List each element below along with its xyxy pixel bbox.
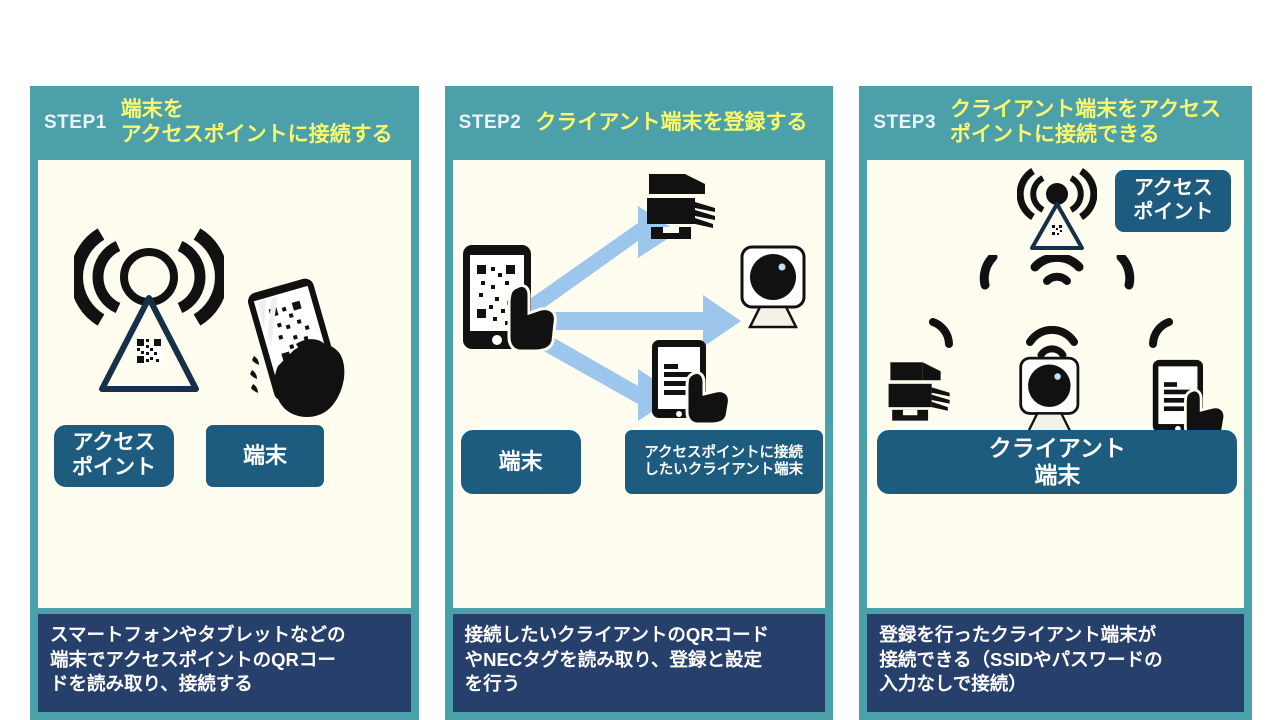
camera-on-stand-icon [738, 245, 816, 329]
badge-terminal-step2: 端末 [461, 430, 581, 494]
step1-header: STEP1 端末を アクセスポイントに接続する [30, 86, 419, 160]
step3-description: 登録を行ったクライアント端末が 接続できる（SSIDやパスワードの 入力なしで接… [867, 614, 1244, 712]
steps-diagram: STEP1 端末を アクセスポイントに接続する [0, 0, 1280, 720]
badge-access-point-step3: アクセス ポイント [1115, 170, 1231, 232]
step-panel-1: STEP1 端末を アクセスポイントに接続する [30, 86, 419, 720]
step3-number: STEP3 [873, 112, 936, 134]
tablet-with-hand-icon [1149, 358, 1231, 438]
step2-number: STEP2 [459, 112, 522, 134]
step2-header: STEP2 クライアント端末を登録する [445, 86, 834, 160]
printer-icon [885, 358, 955, 424]
step-panel-2: STEP2 クライアント端末を登録する [445, 86, 834, 720]
tablet-with-hand-icon [648, 338, 736, 424]
access-point-tower-small-icon [1017, 168, 1097, 252]
badge-client-terminal-step3: クライアント 端末 [877, 430, 1237, 494]
printer-icon [643, 170, 721, 242]
step1-number: STEP1 [44, 112, 107, 134]
step3-title: クライアント端末をアクセス ポイントに接続できる [950, 98, 1221, 148]
hand-holding-smartphone-icon [238, 278, 358, 423]
printer-wifi-arc-icon [927, 318, 963, 350]
step3-header: STEP3 クライアント端末をアクセス ポイントに接続できる [859, 86, 1252, 160]
step2-description: 接続したいクライアントのQRコード やNECタグを読み取り、登録と設定 を行う [453, 614, 826, 712]
step1-title: 端末を アクセスポイントに接続する [121, 98, 393, 148]
tablet-wifi-arc-icon [1139, 318, 1175, 350]
wifi-wave-arcs [977, 255, 1137, 295]
camera-on-stand-icon [1017, 356, 1089, 434]
step1-illustration-area: アクセス ポイント 端末 [38, 160, 411, 608]
badge-terminal-step1: 端末 [206, 425, 324, 487]
step2-illustration-area: 端末 アクセスポイントに接続 したいクライアント端末 [453, 160, 826, 608]
badge-client-devices-step2: アクセスポイントに接続 したいクライアント端末 [625, 430, 823, 494]
camera-wifi-arc-icon [1022, 326, 1082, 360]
step-panel-3: STEP3 クライアント端末をアクセス ポイントに接続できる [859, 86, 1252, 720]
access-point-tower-icon [74, 228, 224, 398]
tablet-qr-scan-icon [461, 243, 561, 351]
step2-title: クライアント端末を登録する [535, 111, 807, 136]
badge-access-point-step1: アクセス ポイント [54, 425, 174, 487]
step3-illustration-area: アクセス ポイント クライアント 端末 [867, 160, 1244, 608]
step1-description: スマートフォンやタブレットなどの 端末でアクセスポイントのQRコー ドを読み取り… [38, 614, 411, 712]
